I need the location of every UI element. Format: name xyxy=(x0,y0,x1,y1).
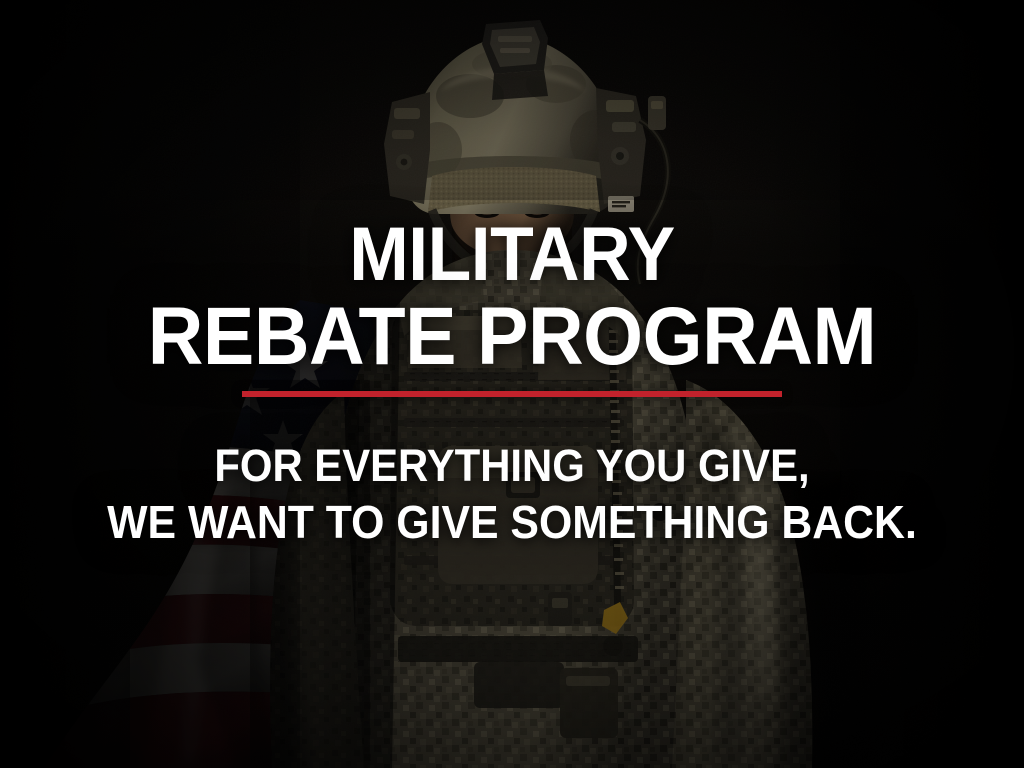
divider-container xyxy=(0,391,1024,397)
military-rebate-banner: MILITARY REBATE PROGRAM FOR EVERYTHING Y… xyxy=(0,0,1024,768)
headline-line-2: REBATE PROGRAM xyxy=(31,297,994,377)
red-divider-line xyxy=(242,391,782,397)
subtitle-line-1: FOR EVERYTHING YOU GIVE, xyxy=(36,443,988,488)
subtitle-line-2: WE WANT TO GIVE SOMETHING BACK. xyxy=(36,499,988,545)
text-overlay: MILITARY REBATE PROGRAM FOR EVERYTHING Y… xyxy=(0,0,1024,768)
headline-line-1: MILITARY xyxy=(31,218,994,292)
